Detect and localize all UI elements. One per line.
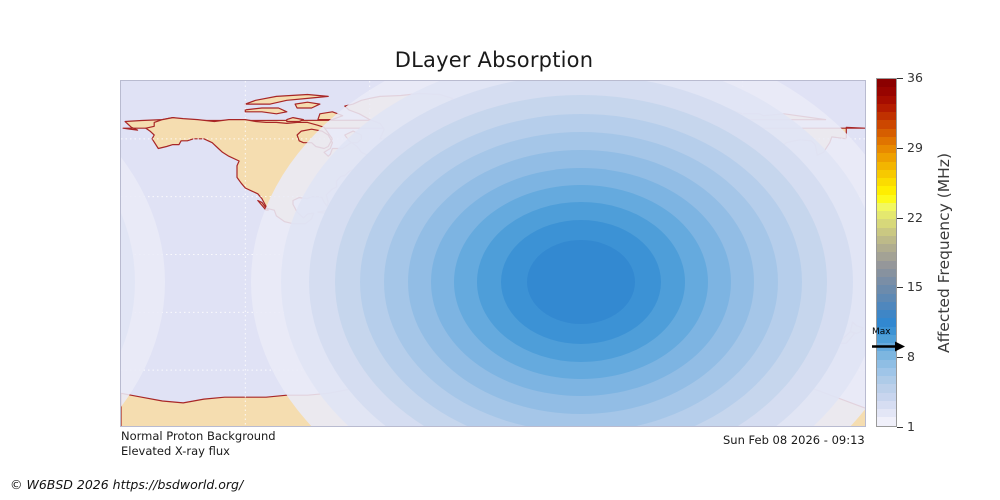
note-xray-flux: Elevated X-ray flux (121, 444, 230, 458)
absorption-contour-band (527, 240, 635, 324)
colorbar-segment (877, 170, 896, 178)
colorbar-segment (877, 294, 896, 302)
colorbar-tick-mark (897, 148, 903, 149)
colorbar-segment (877, 178, 896, 186)
colorbar-segment (877, 104, 896, 112)
colorbar-tick-mark (897, 78, 903, 79)
dlayer-absorption-figure: DLayer Absorption 3629221581 Affected Fr… (0, 0, 1000, 500)
colorbar-segment (877, 236, 896, 244)
colorbar-segment (877, 211, 896, 219)
colorbar-segment (877, 162, 896, 170)
colorbar-segment (877, 401, 896, 409)
colorbar-tick-label: 1 (907, 421, 915, 434)
colorbar-segment (877, 417, 896, 425)
colorbar-segment (877, 228, 896, 236)
colorbar-segment (877, 195, 896, 203)
colorbar-segment (877, 244, 896, 252)
colorbar-segment (877, 318, 896, 326)
colorbar-axis-title: Affected Frequency (MHz) (933, 78, 955, 427)
colorbar-segment (877, 277, 896, 285)
colorbar-tick-mark (897, 427, 903, 428)
colorbar-tick-label: 36 (907, 72, 923, 85)
colorbar-tick-label: 15 (907, 281, 923, 294)
colorbar-segment (877, 368, 896, 376)
colorbar-tick-label: 22 (907, 211, 923, 224)
max-marker: Max (869, 327, 915, 357)
world-map (121, 81, 866, 427)
world-map-panel (120, 80, 866, 427)
max-marker-label: Max (872, 327, 891, 337)
colorbar-tick-mark (897, 218, 903, 219)
colorbar-segment (877, 203, 896, 211)
colorbar-tick-mark (897, 357, 903, 358)
arrow-right-icon (872, 340, 906, 353)
colorbar-segment (877, 120, 896, 128)
timestamp: Sun Feb 08 2026 - 09:13 (723, 433, 865, 447)
colorbar-segment (877, 302, 896, 310)
colorbar-segment (877, 393, 896, 401)
colorbar-segment (877, 137, 896, 145)
colorbar-segment (877, 129, 896, 137)
colorbar-segment (877, 285, 896, 293)
colorbar-segment (877, 261, 896, 269)
colorbar-segment (877, 87, 896, 95)
colorbar-segment (877, 186, 896, 194)
colorbar-segment (877, 376, 896, 384)
colorbar-segment (877, 310, 896, 318)
colorbar-segment (877, 360, 896, 368)
colorbar-tick-mark (897, 287, 903, 288)
colorbar-segment (877, 252, 896, 260)
colorbar-segment (877, 153, 896, 161)
note-proton-background: Normal Proton Background (121, 429, 276, 443)
colorbar-axis-title-label: Affected Frequency (MHz) (935, 153, 953, 353)
colorbar-segment (877, 384, 896, 392)
footer-credit: © W6BSD 2026 https://bsdworld.org/ (10, 477, 243, 492)
colorbar-tick-label: 29 (907, 142, 923, 155)
colorbar-segment (877, 112, 896, 120)
colorbar (876, 78, 897, 427)
colorbar-segment (877, 219, 896, 227)
colorbar-segment (877, 269, 896, 277)
colorbar-segment (877, 96, 896, 104)
page-title: DLayer Absorption (0, 48, 988, 72)
colorbar-segment (877, 145, 896, 153)
colorbar-segment (877, 79, 896, 87)
colorbar-segment (877, 409, 896, 417)
